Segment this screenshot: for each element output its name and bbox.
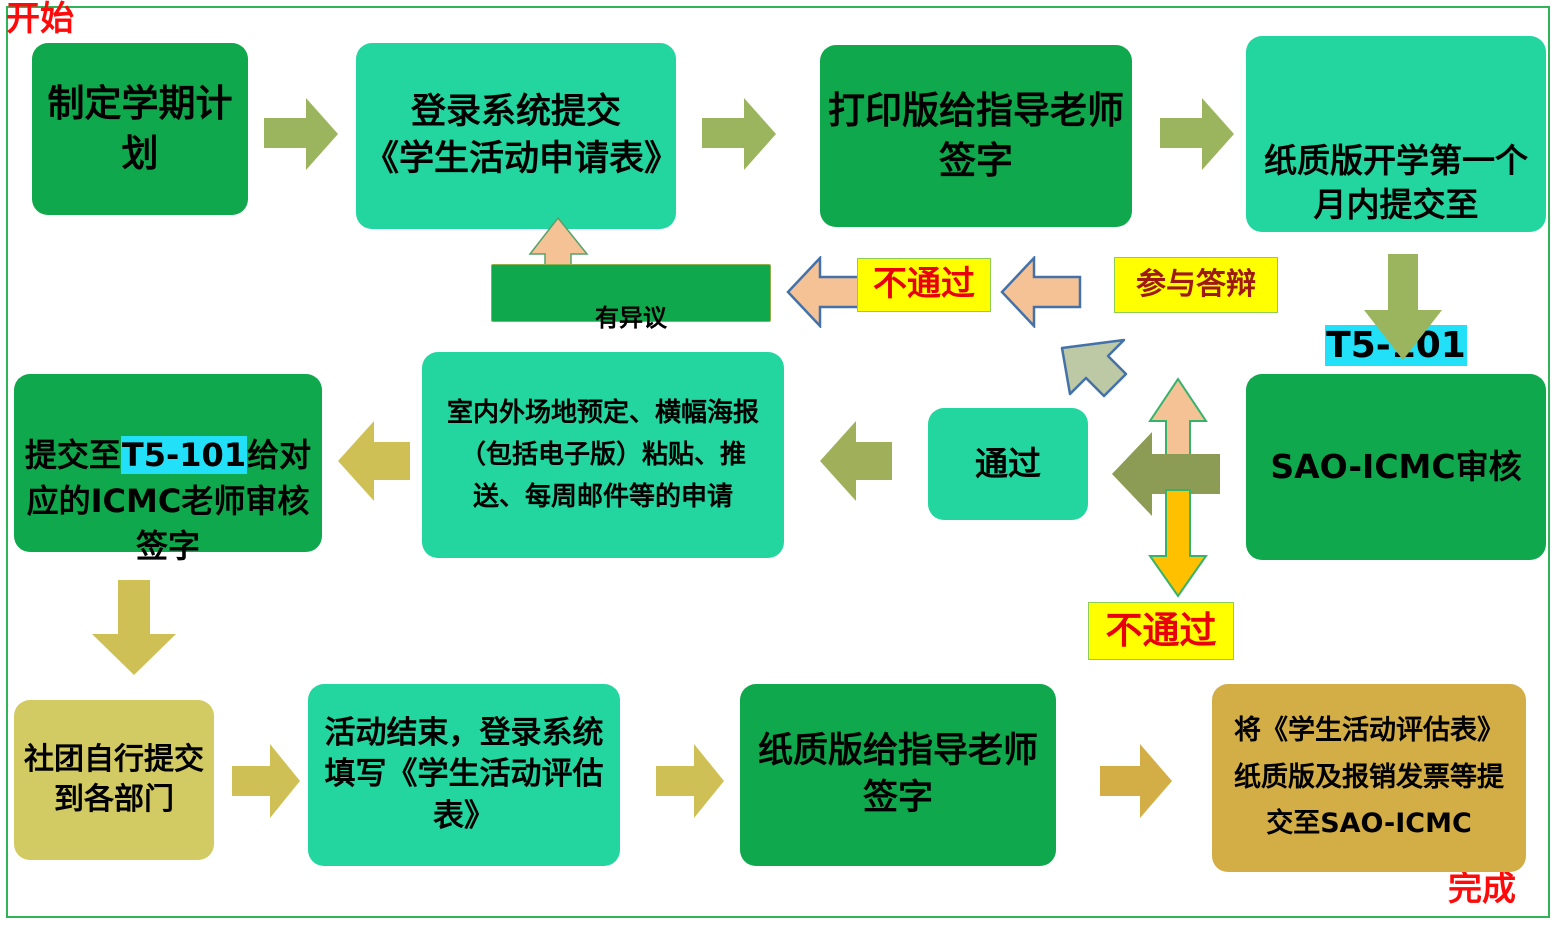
node-pass[interactable]: 通过 (928, 408, 1088, 520)
arrow-down-icmc-to-club (88, 578, 180, 678)
node-login-submit-application[interactable]: 登录系统提交 《学生活动申请表》 (356, 43, 676, 229)
arrow-left-pass-to-venue (818, 418, 894, 504)
arrow-right-plan-to-submit (262, 96, 340, 172)
arrow-downleft-defense-to-pass (1046, 332, 1132, 418)
node-print-teacher-sign[interactable]: 打印版给指导老师签字 (820, 45, 1132, 227)
join-defense-label: 参与答辩 (1136, 265, 1256, 305)
room-highlight-t5101-mid: T5-101 (121, 436, 247, 474)
arrow-left-venue-to-icmc (336, 418, 412, 504)
end-label: 完成 (1448, 872, 1516, 906)
arrow-left-notpass-to-objection (786, 256, 868, 328)
node-submit-to-icmc-teacher[interactable]: 提交至T5-101给对应的ICMC老师审核签字 (14, 374, 322, 552)
arrow-left-defense-to-notpass (1000, 256, 1082, 328)
paper-submit-mid: 提交至 (1380, 185, 1479, 224)
node-final-submit-sao[interactable]: 将《学生活动评估表》纸质版及报销发票等提交至SAO-ICMC (1212, 684, 1526, 872)
objection-line-1: 有异议 (500, 302, 762, 334)
node-join-defense[interactable]: 参与答辩 (1114, 257, 1278, 313)
not-pass-top-label: 不通过 (873, 262, 975, 308)
arrow-down-sao-to-notpass (1146, 488, 1210, 598)
node-make-semester-plan[interactable]: 制定学期计划 (32, 43, 248, 215)
node-venue-application[interactable]: 室内外场地预定、横幅海报（包括电子版）粘贴、推送、每周邮件等的申请 (422, 352, 784, 558)
submit-icmc-prefix: 提交至 (25, 436, 121, 474)
arrow-right-submit-to-print (700, 96, 778, 172)
node-sao-icmc-review[interactable]: SAO-ICMC审核 (1246, 374, 1546, 560)
arrow-right-print-to-paper (1158, 96, 1236, 172)
node-not-pass-bottom[interactable]: 不通过 (1088, 602, 1234, 660)
arrow-right-club-to-eval (230, 742, 302, 820)
node-fill-evaluation-form[interactable]: 活动结束，登录系统填写《学生活动评估表》 (308, 684, 620, 866)
paper-submit-prefix: 纸质版 (1264, 141, 1363, 180)
not-pass-bottom-label: 不通过 (1106, 606, 1217, 656)
arrow-right-eval-to-sign (654, 742, 726, 820)
flowchart-canvas: 开始 完成 制定学期计划 登录系统提交 《学生活动申请表》 打印版给指导老师签字… (0, 0, 1560, 928)
node-paper-submit-t5101[interactable]: 纸质版开学第一个月内提交至 T5-101 (1246, 36, 1546, 232)
start-label: 开始 (6, 2, 74, 36)
node-objection-appeal[interactable]: 有异议 申请复议1次 (491, 264, 771, 322)
arrow-right-sign-to-final (1098, 742, 1174, 820)
node-club-self-submit[interactable]: 社团自行提交到各部门 (14, 700, 214, 860)
node-not-pass-top[interactable]: 不通过 (857, 258, 991, 312)
node-paper-teacher-sign[interactable]: 纸质版给指导老师签字 (740, 684, 1056, 866)
arrow-down-paper-to-sao (1360, 252, 1446, 364)
